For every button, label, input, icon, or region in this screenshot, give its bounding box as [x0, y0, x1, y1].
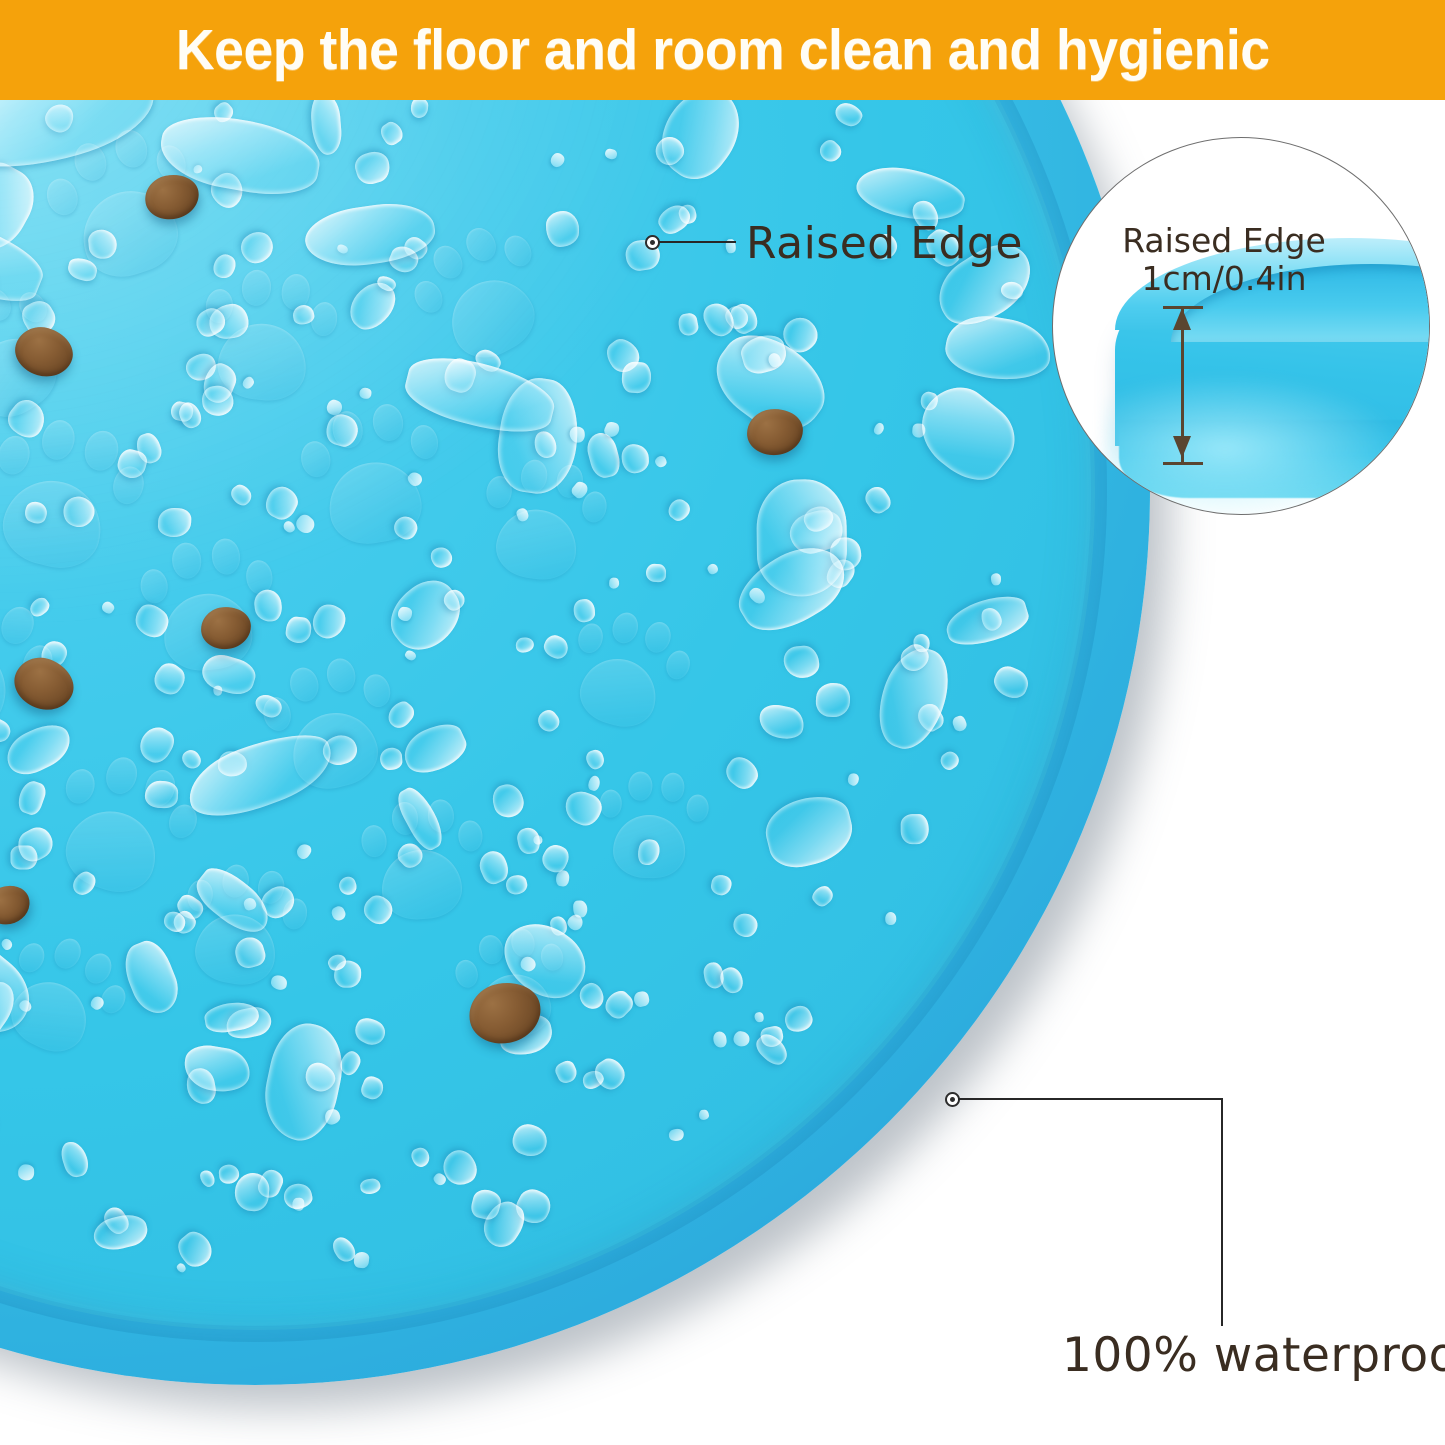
tray-raised-rim	[0, 100, 1150, 1385]
dimension-cap-bottom	[1163, 462, 1203, 465]
banner-title: Keep the floor and room clean and hygien…	[176, 17, 1270, 83]
water-droplet	[901, 814, 929, 844]
inset-label-line1: Raised Edge	[1099, 222, 1349, 260]
waterproof-leader-vertical	[1221, 1098, 1223, 1326]
inset-label: Raised Edge 1cm/0.4in	[1099, 222, 1349, 297]
water-droplet	[145, 780, 179, 808]
kibble-piece	[1022, 1074, 1094, 1138]
water-droplet	[885, 912, 896, 925]
raised-edge-leader-line	[658, 241, 736, 243]
water-droplet	[379, 747, 403, 770]
inset-label-line2: 1cm/0.4in	[1099, 260, 1349, 298]
paw-print-emboss	[591, 764, 709, 887]
water-droplet	[546, 211, 579, 248]
water-droplet	[18, 1163, 35, 1180]
raised-edge-detail-inset: Raised Edge 1cm/0.4in	[1052, 137, 1430, 515]
pet-feeding-tray	[0, 100, 1150, 1385]
water-droplet	[573, 900, 588, 918]
waterproof-label: 100% waterproof	[1062, 1328, 1445, 1383]
header-banner: Keep the floor and room clean and hygien…	[0, 0, 1445, 100]
water-droplet	[990, 573, 1001, 585]
paw-print-emboss	[286, 389, 454, 562]
water-droplet	[359, 388, 371, 399]
rim-height-dimension-arrow	[1159, 302, 1205, 470]
dimension-arrowhead-up	[1173, 308, 1191, 330]
dimension-arrowhead-down	[1173, 436, 1191, 458]
water-droplet	[573, 598, 596, 622]
raised-edge-label: Raised Edge	[746, 218, 1023, 269]
kibble-piece	[667, 1348, 747, 1385]
waterproof-leader-horizontal	[958, 1098, 1223, 1100]
rim-glow-highlight	[1105, 374, 1405, 515]
product-photo-stage: Raised Edge 100% waterproof Raised Edge …	[0, 100, 1445, 1445]
